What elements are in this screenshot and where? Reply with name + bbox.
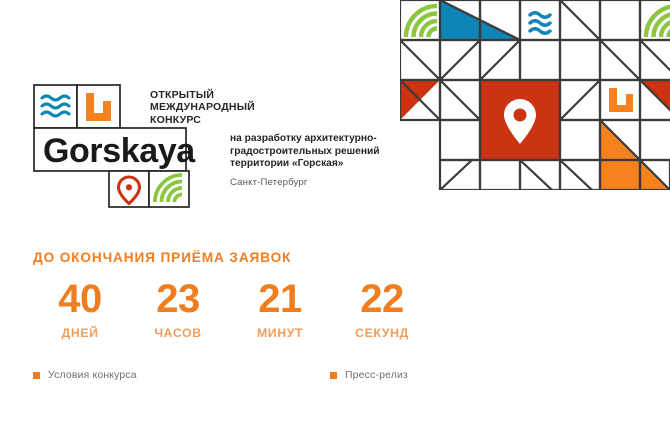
- competition-logo[interactable]: Gorskaya ОТКРЫТЫЙ МЕЖДУНАРОДНЫЙ КОНКУРС …: [33, 84, 333, 209]
- countdown-unit-hours: 23 ЧАСОВ: [127, 279, 229, 340]
- countdown-hours-label: ЧАСОВ: [127, 326, 229, 340]
- countdown-heading: ДО ОКОНЧАНИЯ ПРИЁМА ЗАЯВОК: [33, 250, 433, 265]
- bullet-square-icon: [33, 372, 40, 379]
- countdown-section: ДО ОКОНЧАНИЯ ПРИЁМА ЗАЯВОК 40 ДНЕЙ 23 ЧА…: [33, 250, 433, 340]
- logo-title-line-3: КОНКУРС: [150, 114, 255, 126]
- countdown-minutes-label: МИНУТ: [229, 326, 331, 340]
- countdown-days-label: ДНЕЙ: [33, 326, 127, 340]
- countdown-seconds-value: 22: [331, 279, 433, 319]
- countdown-days-value: 40: [33, 279, 127, 319]
- page-root: Gorskaya ОТКРЫТЫЙ МЕЖДУНАРОДНЫЙ КОНКУРС …: [0, 0, 670, 446]
- link-press-release-label: Пресс-релиз: [345, 370, 408, 381]
- countdown-unit-days: 40 ДНЕЙ: [33, 279, 127, 340]
- countdown-minutes-value: 21: [229, 279, 331, 319]
- countdown-seconds-label: СЕКУНД: [331, 326, 433, 340]
- logo-city: Санкт-Петербург: [230, 177, 308, 188]
- logo-subtitle-line-3: территории «Горская»: [230, 158, 435, 171]
- logo-title: ОТКРЫТЫЙ МЕЖДУНАРОДНЫЙ КОНКУРС: [150, 89, 255, 126]
- countdown-unit-minutes: 21 МИНУТ: [229, 279, 331, 340]
- link-press-release[interactable]: Пресс-релиз: [330, 370, 408, 381]
- logo-wordmark: Gorskaya: [43, 132, 196, 170]
- logo-title-line-2: МЕЖДУНАРОДНЫЙ: [150, 101, 255, 113]
- logo-subtitle-line-1: на разработку архитектурно-: [230, 133, 435, 146]
- logo-title-line-1: ОТКРЫТЫЙ: [150, 89, 255, 101]
- link-competition-terms[interactable]: Условия конкурса: [33, 370, 137, 381]
- links-row: Условия конкурса Пресс-релиз: [33, 370, 453, 386]
- countdown-hours-value: 23: [127, 279, 229, 319]
- bullet-square-icon: [330, 372, 337, 379]
- countdown-row: 40 ДНЕЙ 23 ЧАСОВ 21 МИНУТ 22 СЕКУНД: [33, 279, 433, 340]
- decorative-pattern: [400, 0, 670, 190]
- logo-subtitle-line-2: градостроительных решений: [230, 146, 435, 159]
- logo-subtitle: на разработку архитектурно- градостроите…: [230, 133, 435, 171]
- countdown-unit-seconds: 22 СЕКУНД: [331, 279, 433, 340]
- link-competition-terms-label: Условия конкурса: [48, 370, 137, 381]
